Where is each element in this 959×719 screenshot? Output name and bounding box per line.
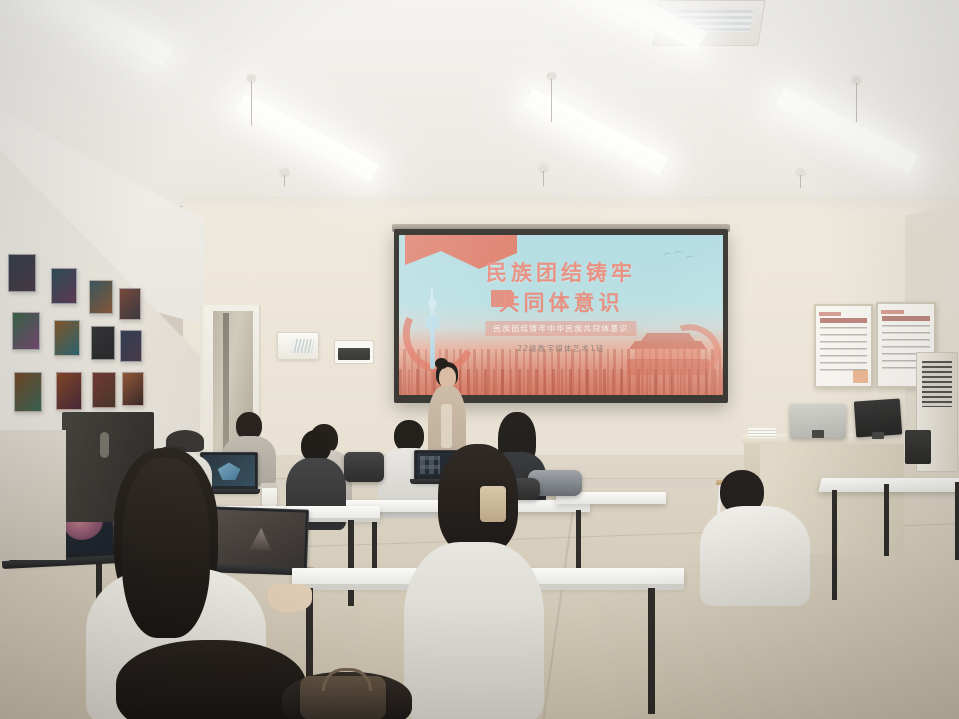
wall-art-6 xyxy=(54,320,80,356)
desk-leg xyxy=(648,588,655,714)
student-front-center xyxy=(404,444,544,719)
light-mount xyxy=(547,72,556,79)
wall-art-3 xyxy=(89,280,113,314)
light-mount xyxy=(796,168,805,175)
wall-art-8 xyxy=(120,330,142,362)
wall-speaker xyxy=(334,340,374,364)
monitor-stand xyxy=(872,432,884,439)
wall-art-5 xyxy=(12,312,40,350)
light-mount xyxy=(852,76,861,83)
slide-class-label: 22级数字媒体艺术1班 xyxy=(399,343,723,354)
hair-clip xyxy=(480,486,506,522)
wall-art-12 xyxy=(122,372,144,406)
wall-control-panel[interactable] xyxy=(277,332,319,360)
slide-title-line1: 民族团结铸牢 xyxy=(399,257,723,287)
presenter-head xyxy=(439,367,456,388)
classroom-photo: 民族团结铸牢 共同体意识 民族团结铸牢中华民族共同体意识 22级数字媒体艺术1班 xyxy=(0,0,959,719)
wall-art-4 xyxy=(119,288,141,320)
back-wall-cornice xyxy=(183,196,959,214)
presenter-bun xyxy=(435,358,448,369)
left-counter xyxy=(0,430,66,560)
wall-art-7 xyxy=(91,326,115,360)
notice-board-left xyxy=(814,304,873,388)
wall-art-10 xyxy=(56,372,82,410)
light-mount xyxy=(247,74,256,81)
light-wire xyxy=(251,78,252,126)
pc-tower xyxy=(905,430,931,464)
wall-art-11 xyxy=(92,372,116,408)
light-wire xyxy=(856,80,857,122)
slide-subtitle: 民族团结铸牢中华民族共同体意识 xyxy=(486,321,637,336)
light-wire xyxy=(551,76,552,122)
backpack-black xyxy=(344,452,384,482)
wall-art-9 xyxy=(14,372,42,412)
hand xyxy=(268,584,312,612)
desk-leg xyxy=(348,520,354,606)
table-leg xyxy=(832,490,837,600)
monitor-stand xyxy=(812,430,824,438)
light-mount xyxy=(539,164,548,171)
table-leg xyxy=(884,484,889,556)
wall-art-2 xyxy=(51,268,77,304)
student-bottom-right xyxy=(700,470,810,600)
paper-stack xyxy=(748,428,776,438)
presenter-shirt xyxy=(441,404,452,448)
wall-art-1 xyxy=(8,254,36,292)
table-leg xyxy=(955,482,959,560)
slide-title-line2: 共同体意识 xyxy=(399,287,723,317)
wave-icon xyxy=(292,339,315,353)
light-mount xyxy=(280,168,289,175)
desk-leg xyxy=(576,510,581,572)
